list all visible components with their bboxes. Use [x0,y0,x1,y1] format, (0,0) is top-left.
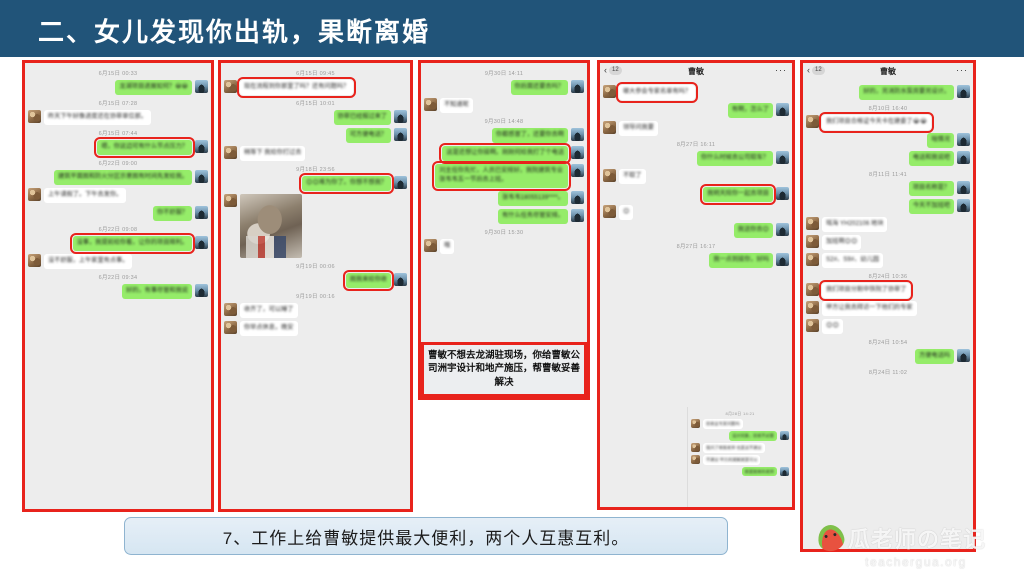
message-timestamp: 8月27日 16:17 [603,242,789,250]
chat-header: ‹12曹敏··· [600,63,792,80]
message-row: 😊😊难为你了。你想不想我？ [224,176,407,191]
message-row: 没事，我提前给你看，让你的项目顺利。 [28,236,208,251]
message-row: 昨天下午好像进度还在协审单位那。 [28,110,208,125]
message-timestamp: 8月27日 16:11 [603,140,789,148]
message-timestamp: 8月24日 10:54 [806,338,970,346]
message-timestamp: 6月15日 07:44 [28,129,208,137]
avatar-contact [806,319,819,332]
message-bubble[interactable]: 哪大参会专家名单有吗？ [619,85,695,100]
message-bubble[interactable]: 现在流程到你那里了吗？还有问题吗？ [240,80,353,95]
avatar-self [776,151,789,164]
message-row: 有啊，怎么了 [603,103,789,118]
message-timestamp: 6月15日 00:33 [28,69,208,77]
message-bubble[interactable]: 好的，另消防水泵房要另设计。 [859,85,954,100]
message-row: 那是图审的老师 [691,467,789,477]
avatar-self [780,431,789,440]
message-row: 有什么任务尽管安排。 [424,209,584,224]
chat-header: ‹12曹敏··· [803,63,973,80]
message-bubble[interactable]: 设计同意，验收不必要 [729,431,777,441]
chat-panel: 9月30日 14:11你后面还要去吗？不知道呢9月30日 14:48你都感冒了，… [421,63,587,397]
message-bubble[interactable]: 你后面还要去吗？ [511,80,569,95]
message-row: 收齐了，可以睡了 [224,303,407,318]
message-timestamp: 9月19日 00:06 [224,262,407,270]
avatar-contact [806,283,819,296]
message-bubble[interactable]: 项目名称是？ [909,181,954,196]
message-row: 我们项目合格证今天卡在建委了😭😭 [806,115,970,130]
message-bubble[interactable]: 啥情况 [927,133,954,148]
message-timestamp: 9月30日 14:11 [424,69,584,77]
avatar-self [776,223,789,236]
chat-title: 曹敏 [688,66,704,77]
message-row: 建筑平面图和防火分区示意图有时间先发给我。 [28,170,208,185]
message-list: 6月15日 09:45现在流程到你那里了吗？还有问题吗？6月15日 10:01协… [221,63,410,343]
slide-root: 二、女儿发现你出轨，果断离婚 6月15日 00:33龙湖项目进展如何？😀😀6月1… [0,0,1024,576]
message-bubble[interactable]: 😊😊 [822,319,843,334]
more-options-icon[interactable]: ··· [775,66,787,74]
message-row: 我问了审图老师 也是这不建议 [691,443,789,453]
avatar-contact [691,443,700,452]
message-row: 今天不加班吧 [806,199,970,214]
message-list: 好的，另消防水泵房要另设计。8月10日 16:40我们项目合格证今天卡在建委了😭… [803,80,973,383]
message-bubble[interactable]: 不建议 甲方的理解就是可以 [703,455,760,465]
message-row: 你什么时候去公司取车？ [603,151,789,166]
avatar-self [957,349,970,362]
message-list: 6月15日 00:33龙湖项目进展如何？😀😀6月15日 07:28昨天下午好像进… [25,63,211,306]
nested-chat-overlay[interactable]: 8月28日 14:21验收会专家问题吗设计同意，验收不必要我问了审图老师 也是这… [687,407,792,507]
caption-text: 7、工作上给曹敏提供最大便利，两个人互惠互利。 [223,524,629,549]
avatar-contact [424,239,437,252]
message-bubble[interactable]: 我问了审图老师 也是这不建议 [703,443,765,453]
message-bubble[interactable]: 图我来给你收 [346,273,391,288]
message-timestamp: 8月10日 16:40 [806,104,970,112]
message-bubble[interactable]: 我们项目分割中铁院了协审了 [822,283,910,298]
back-button[interactable]: ‹12 [604,66,622,75]
message-bubble[interactable]: 刘主任你先忙，人员已安排好，我院建筑专业张韦韦五一节后去上班。 [435,164,568,188]
message-row: 好的，有事尽管和我说 [28,284,208,299]
message-row: 好的，另消防水泵房要另设计。 [806,85,970,100]
message-row: 我明天陪你一起去项目 [603,187,789,202]
avatar-contact [603,205,616,218]
message-timestamp: 6月15日 07:28 [28,99,208,107]
message-bubble[interactable]: 甲方让我去拜访一下他们的专家 [822,301,917,316]
message-row: 稍等下 我给你打过去 [224,146,407,161]
message-bubble[interactable]: 不知道呢 [440,98,473,113]
avatar-self [776,187,789,200]
avatar-contact [806,253,819,266]
annotation-callout: 曹敏不想去龙湖驻现场，你给曹敏公司洲宇设计和地产施压，帮曹敏妥善解决 [421,342,587,397]
message-list: 哪大参会专家名单有吗？有啊，怎么了领导问我要8月27日 16:11你什么时候去公… [600,80,792,275]
message-bubble[interactable]: 验收会专家问题吗 [703,419,743,429]
message-timestamp: 9月30日 14:48 [424,117,584,125]
message-row: 项目名称是？ [806,181,970,196]
avatar-self [571,164,584,177]
chat-column-5[interactable]: ‹12曹敏···好的，另消防水泵房要另设计。8月10日 16:40我们项目合格证… [800,60,976,552]
message-timestamp: 6月22日 09:34 [28,273,208,281]
message-row: 你不舒服？ [28,206,208,221]
message-bubble[interactable]: 电话和我说吧 [909,151,954,166]
message-bubble[interactable]: 昨天下午好像进度还在协审单位那。 [44,110,151,125]
message-row: 不知道呢 [424,98,584,113]
message-bubble[interactable]: 那是图审的老师 [742,467,777,477]
avatar-self [195,206,208,219]
message-bubble[interactable]: 你不舒服？ [153,206,192,221]
message-bubble[interactable]: 我送你去😊 [734,223,773,238]
message-row: 你后面还要去吗？ [424,80,584,95]
message-row: 现在流程到你那里了吗？还有问题吗？ [224,80,407,95]
caption-box: 7、工作上给曹敏提供最大便利，两个人互惠互利。 [124,517,728,555]
avatar-self [571,80,584,93]
message-timestamp: 6月22日 09:00 [28,159,208,167]
message-bubble[interactable]: 瑶海 YH202106 地块 [822,217,887,232]
message-row: 上午请假了。下午去发你。 [28,188,208,203]
avatar-self [957,151,970,164]
avatar-contact [603,169,616,182]
message-bubble[interactable]: 今天不加班吧 [909,199,954,214]
avatar-contact [28,188,41,201]
message-row: 领导问我要 [603,121,789,136]
message-row: 不建议 甲方的理解就是可以 [691,455,789,465]
avatar-contact [691,455,700,464]
message-bubble[interactable]: 龙湖项目进展如何？😀😀 [115,80,192,95]
message-row: 😊 [603,205,789,220]
message-row: 甲方让我去拜访一下他们的专家 [806,301,970,316]
message-row: 没不舒服，上午家里有点事。 [28,254,208,269]
avatar-self [195,236,208,249]
message-bubble[interactable]: 有啊，怎么了 [728,103,773,118]
message-row: 电话和我说吧 [806,151,970,166]
message-bubble[interactable]: 收齐了，可以睡了 [240,303,298,318]
chevron-left-icon: ‹ [604,66,607,75]
chat-column-2[interactable]: 6月15日 09:45现在流程到你那里了吗？还有问题吗？6月15日 10:01协… [218,60,413,512]
message-row: 张韦韦18055139****。 [424,191,584,206]
avatar-self [195,80,208,93]
message-row: 不取了 [603,169,789,184]
chat-column-4[interactable]: ‹12曹敏···哪大参会专家名单有吗？有啊，怎么了领导问我要8月27日 16:1… [597,60,795,510]
avatar-self [957,199,970,212]
message-row: 验收会专家问题吗 [691,419,789,429]
message-timestamp: 9月18日 23:56 [224,165,407,173]
back-button[interactable]: ‹12 [807,66,825,75]
chat-title: 曹敏 [880,66,896,77]
avatar-self [394,273,407,286]
message-bubble[interactable]: 嗯，你这边可有什么节点压力？ [97,140,192,155]
chat-column-3[interactable]: 9月30日 14:11你后面还要去吗？不知道呢9月30日 14:48你都感冒了，… [418,60,590,400]
avatar-contact [806,301,819,314]
avatar-self [394,176,407,189]
chat-panel: ‹12曹敏···好的，另消防水泵房要另设计。8月10日 16:40我们项目合格证… [803,63,973,549]
photo-message[interactable] [240,194,302,258]
message-timestamp: 6月15日 10:01 [224,99,407,107]
avatar-self [571,191,584,204]
unread-badge: 12 [609,66,622,75]
avatar-contact [224,303,237,316]
avatar-contact [691,419,700,428]
message-row: 嗯，你这边可有什么节点压力？ [28,140,208,155]
message-list: 9月30日 14:11你后面还要去吗？不知道呢9月30日 14:48你都感冒了，… [421,63,587,261]
avatar-contact [603,121,616,134]
message-row: 加班啊😊😊 [806,235,970,250]
chat-panel: 6月15日 09:45现在流程到你那里了吗？还有问题吗？6月15日 10:01协… [221,63,410,509]
avatar-contact [806,115,819,128]
message-row: 刘主任你先忙，人员已安排好，我院建筑专业张韦韦五一节后去上班。 [424,164,584,188]
message-bubble[interactable]: 稍等下 我给你打过去 [240,146,305,161]
chat-panel: ‹12曹敏···哪大参会专家名单有吗？有啊，怎么了领导问我要8月27日 16:1… [600,63,792,507]
message-bubble[interactable]: 😊 [619,205,633,220]
avatar-self [571,128,584,141]
message-bubble[interactable]: 有什么任务尽管安排。 [498,209,568,224]
message-timestamp: 8月24日 11:02 [806,368,970,376]
message-timestamp: 9月19日 00:16 [224,292,407,300]
avatar-self [571,146,584,159]
message-bubble[interactable]: 😊😊难为你了。你想不想我？ [302,176,391,191]
message-row: 你都感冒了，还要你去啊 [424,128,584,143]
message-bubble[interactable]: 上午请假了。下午去发你。 [44,188,126,203]
message-bubble[interactable]: 这是还想让你接啊。刚刚何给我打了个电话 [442,146,568,161]
message-bubble[interactable]: 你什么时候去公司取车？ [697,151,773,166]
avatar-self [195,140,208,153]
avatar-contact [806,235,819,248]
message-bubble[interactable]: 我明天陪你一起去项目 [703,187,773,202]
message-row: 我送你去😊 [603,223,789,238]
message-row: 你早点休息，晚安 [224,321,407,336]
avatar-contact [28,254,41,267]
message-row [224,194,407,258]
avatar-contact [224,146,237,159]
avatar-contact [224,194,237,207]
message-bubble[interactable]: 领导问我要 [619,121,658,136]
message-bubble[interactable]: 好的，有事尽管和我说 [122,284,192,299]
message-row: 设计同意，验收不必要 [691,431,789,441]
message-row: 我一点到接你，好吗 [603,253,789,268]
message-bubble[interactable]: 张韦韦18055139****。 [498,191,568,206]
message-row: 图我来给你收 [224,273,407,288]
message-timestamp: 8月24日 10:36 [806,272,970,280]
message-row: 哪大参会专家名单有吗？ [603,85,789,100]
avatar-self [957,85,970,98]
message-row: 哦 [424,239,584,254]
watermark-site: teachergua.org [818,555,1014,569]
page-title: 二、女儿发现你出轨，果断离婚 [38,12,430,49]
avatar-self [195,284,208,297]
chevron-left-icon: ‹ [807,66,810,75]
avatar-self [195,170,208,183]
avatar-self [957,181,970,194]
avatar-self [780,467,789,476]
avatar-self [394,128,407,141]
message-timestamp: 9月30日 15:30 [424,228,584,236]
message-timestamp: 8月11日 11:41 [806,170,970,178]
message-bubble[interactable]: 没事，我提前给你看，让你的项目顺利。 [73,236,192,251]
message-row: 我们项目分割中铁院了协审了 [806,283,970,298]
message-row: 龙湖项目进展如何？😀😀 [28,80,208,95]
message-row: 可方便电话？ [224,128,407,143]
message-bubble[interactable]: 加班啊😊😊 [822,235,861,250]
message-row: 瑶海 YH202106 地块 [806,217,970,232]
chat-panel: 6月15日 00:33龙湖项目进展如何？😀😀6月15日 07:28昨天下午好像进… [25,63,211,509]
message-bubble[interactable]: 你早点休息，晚安 [240,321,298,336]
message-timestamp: 8月28日 14:21 [691,411,789,417]
chat-column-1[interactable]: 6月15日 00:33龙湖项目进展如何？😀😀6月15日 07:28昨天下午好像进… [22,60,214,512]
message-bubble[interactable]: 我们项目合格证今天卡在建委了😭😭 [822,115,931,130]
message-bubble[interactable]: 我一点到接你，好吗 [709,253,773,268]
message-row: S2#、S9#、幼儿园 [806,253,970,268]
avatar-contact [28,110,41,123]
message-row: 协审已经报过来了 [224,110,407,125]
message-row: 啥情况 [806,133,970,148]
avatar-contact [224,80,237,93]
message-bubble[interactable]: 可方便电话？ [346,128,391,143]
message-bubble[interactable]: S2#、S9#、幼儿园 [822,253,883,268]
avatar-self [776,103,789,116]
message-bubble[interactable]: 不取了 [619,169,646,184]
avatar-contact [603,85,616,98]
more-options-icon[interactable]: ··· [956,66,968,74]
message-timestamp: 6月22日 09:08 [28,225,208,233]
slide-header-bar: 二、女儿发现你出轨，果断离婚 [0,0,1024,57]
message-row: 方便电话吗 [806,349,970,364]
avatar-contact [806,217,819,230]
message-bubble[interactable]: 建筑平面图和防火分区示意图有时间先发给我。 [54,170,192,185]
message-bubble[interactable]: 方便电话吗 [915,349,954,364]
message-row: 这是还想让你接啊。刚刚何给我打了个电话 [424,146,584,161]
avatar-self [571,209,584,222]
message-bubble[interactable]: 哦 [440,239,454,254]
message-row: 😊😊 [806,319,970,334]
avatar-self [776,253,789,266]
avatar-self [957,133,970,146]
avatar-contact [424,98,437,111]
message-bubble[interactable]: 协审已经报过来了 [334,110,392,125]
message-bubble[interactable]: 你都感冒了，还要你去啊 [492,128,568,143]
message-timestamp: 6月15日 09:45 [224,69,407,77]
message-bubble[interactable]: 没不舒服，上午家里有点事。 [44,254,132,269]
avatar-self [394,110,407,123]
unread-badge: 12 [812,66,825,75]
avatar-contact [224,321,237,334]
